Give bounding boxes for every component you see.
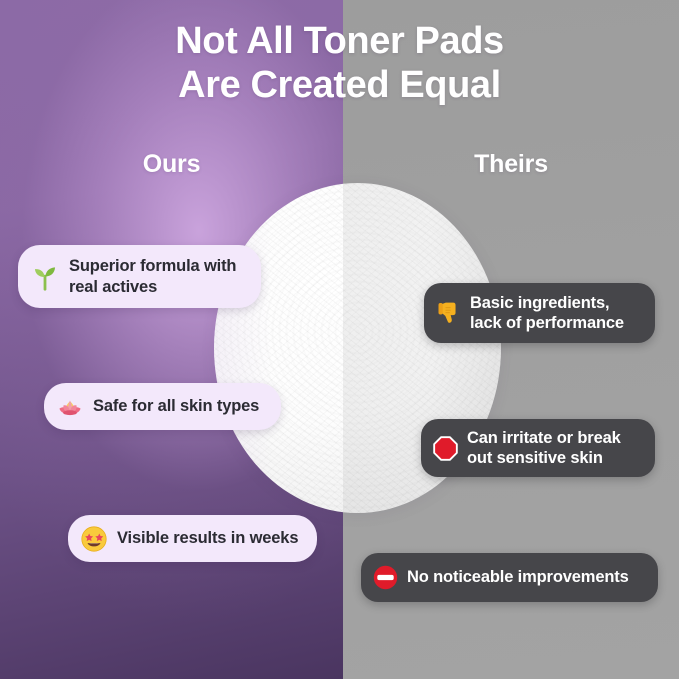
drawback-pill-label: Basic ingredients, lack of performance — [470, 293, 624, 334]
no-entry-sign-icon — [373, 565, 398, 590]
seedling-icon — [31, 263, 59, 291]
benefit-pill-visible-results: Visible results in weeks — [68, 515, 317, 562]
thumbs-down-icon — [436, 301, 461, 326]
benefit-pill-safe-all-skin: Safe for all skin types — [44, 383, 281, 430]
lotus-flower-icon — [57, 394, 83, 420]
drawback-pill-label: Can irritate or break out sensitive skin — [467, 428, 621, 469]
comparison-infographic: Not All Toner Pads Are Created Equal Our… — [0, 0, 679, 679]
stop-sign-icon — [433, 436, 458, 461]
benefit-pill-label: Superior formula with real actives — [69, 256, 236, 297]
drawback-pill-label: No noticeable improvements — [407, 567, 629, 587]
page-title: Not All Toner Pads Are Created Equal — [0, 19, 679, 107]
column-header-theirs: Theirs — [343, 150, 679, 179]
drawback-pill-can-irritate: Can irritate or break out sensitive skin — [421, 419, 655, 477]
benefit-pill-label: Safe for all skin types — [93, 396, 259, 416]
pad-left-tint — [214, 183, 343, 513]
drawback-pill-basic-ingredients: Basic ingredients, lack of performance — [424, 283, 655, 343]
benefit-pill-superior-formula: Superior formula with real actives — [18, 245, 261, 308]
star-struck-face-icon — [81, 526, 107, 552]
drawback-pill-no-improvements: No noticeable improvements — [361, 553, 658, 602]
column-header-ours: Ours — [0, 150, 343, 179]
benefit-pill-label: Visible results in weeks — [117, 528, 298, 548]
